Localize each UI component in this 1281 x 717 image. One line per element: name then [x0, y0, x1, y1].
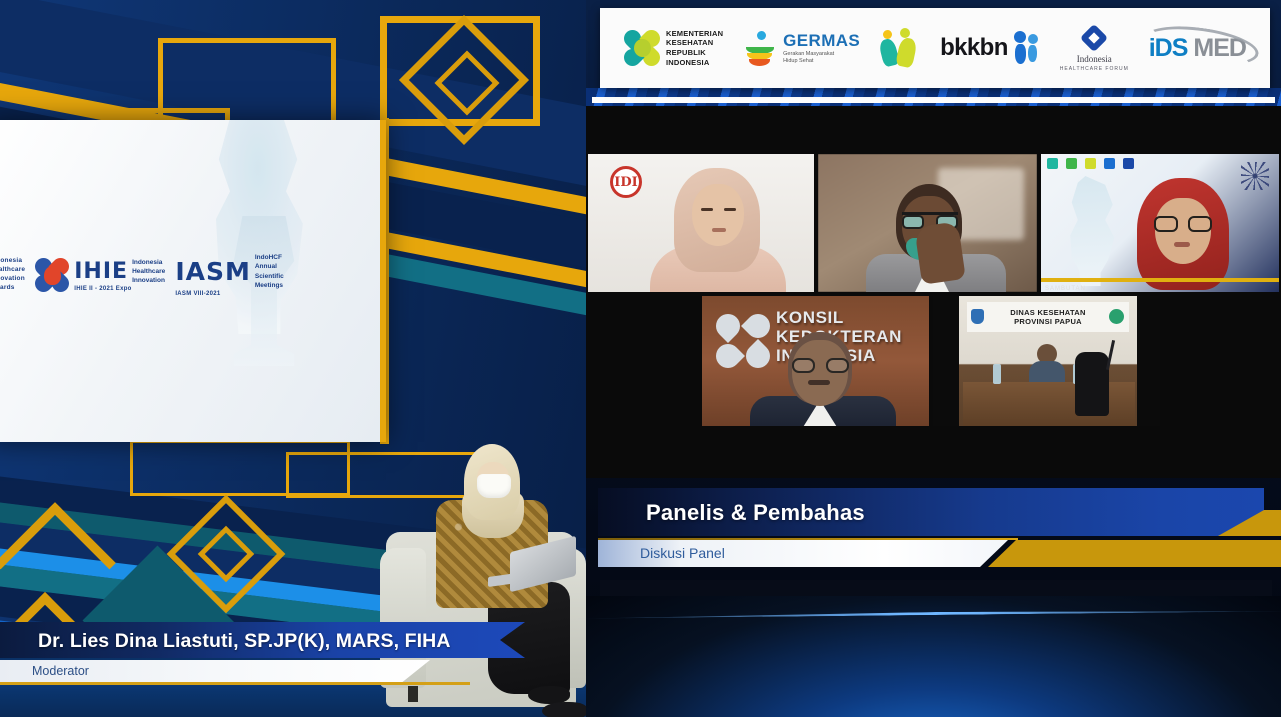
awards-caption: Indonesia Healthcare Innovation Awards: [0, 257, 25, 292]
ihie-sub-3: Innovation: [132, 276, 165, 285]
speaker-name: Dr. Lies Dina Liastuti, SP.JP(K), MARS, …: [38, 630, 451, 653]
participant-hand: [914, 221, 966, 285]
ihie-wordmark: IHIE: [74, 259, 128, 284]
awards-line-4: Awards: [0, 284, 25, 293]
papua-emblem-icon: [971, 309, 984, 324]
mini-logo-4-icon: [1104, 158, 1115, 169]
kemenkes-emblem-icon: [1109, 309, 1124, 324]
kemenkes-logo: KEMENTERIAN KESEHATAN REPUBLIK INDONESIA: [624, 29, 723, 68]
participant-tile-woman-hijab[interactable]: IDI: [588, 154, 814, 292]
panel-subtitle: Diskusi Panel: [640, 545, 725, 561]
gold-frame: [130, 440, 350, 496]
ihf-subtext: HEALTHCARE FORUM: [1060, 66, 1129, 72]
eyeglasses-icon: [1154, 216, 1212, 233]
idsmed-swoosh-icon: [1141, 20, 1261, 72]
bkkbn-wordmark: bkkbn: [940, 34, 1008, 62]
lower-third-banner: Dr. Lies Dina Liastuti, SP.JP(K), MARS, …: [0, 622, 540, 684]
backdrop-line-2: PROVINSI PAPUA: [1014, 317, 1082, 326]
participant-grid: IDI: [586, 106, 1281, 478]
iasm-logo: IASM IndoHCF Annual Scientific Meetings …: [175, 253, 283, 296]
participant-grid-row-top: IDI: [588, 154, 1279, 292]
ihf-mark-icon: [1080, 24, 1108, 52]
panel-title-banner: Panelis & Pembahas Diskusi Panel: [598, 488, 1281, 572]
awards-line-1: Indonesia: [0, 257, 25, 266]
kemenkes-line-4: INDONESIA: [666, 58, 723, 68]
bkkbn-logo: bkkbn: [940, 31, 1040, 65]
ihie-sub-1: Indonesia: [132, 258, 165, 267]
mini-logo-5-icon: [1123, 158, 1134, 169]
lower-third-gold-rule: [0, 682, 470, 685]
participant-mouth: [712, 228, 726, 232]
awards-line-2: Healthcare: [0, 266, 25, 275]
banner-gold-accent-bottom: [958, 540, 1281, 567]
sponsor-logo-bar: KEMENTERIAN KESEHATAN REPUBLIK INDONESIA…: [600, 8, 1270, 88]
participant-mouth: [1174, 242, 1190, 247]
germas-sub-2: Hidup Sehat: [783, 58, 860, 65]
face-mask-icon: [477, 474, 511, 498]
keluarga-sehat-mark-icon: [880, 28, 920, 68]
video-call-panel: IDI: [586, 0, 1281, 717]
speaker-role: Moderator: [32, 664, 89, 678]
backdrop-banner: DINAS KESEHATAN PROVINSI PAPUA: [967, 302, 1129, 332]
virtual-bg-logo-row: [1047, 158, 1134, 169]
iasm-sub-3: Scientific: [255, 272, 284, 281]
lower-dark-band: [600, 580, 1272, 596]
mini-logo-1-icon: [1047, 158, 1058, 169]
germas-mark-icon: [743, 29, 777, 67]
decorative-blue-strip: [586, 88, 1281, 106]
iasm-wordmark: IASM: [175, 257, 251, 286]
iasm-edition: IASM VIII-2021: [175, 291, 283, 297]
kemenkes-clover-icon: [624, 30, 660, 66]
participant-eye-left: [701, 208, 713, 211]
eyeglasses-icon: [792, 358, 849, 374]
participant-tile-dinas-kesehatan-papua[interactable]: DINAS KESEHATAN PROVINSI PAPUA: [933, 296, 1160, 426]
mini-logo-3-icon: [1085, 158, 1096, 169]
keluarga-sehat-logo: [880, 28, 920, 68]
kemenkes-line-1: KEMENTERIAN: [666, 29, 723, 39]
participant-face: [692, 184, 744, 246]
ihie-mark-icon: [35, 258, 69, 292]
backdrop-line-1: KONSIL: [776, 308, 902, 327]
germas-sub-1: Gerakan Masyarakat: [783, 51, 860, 58]
ihf-wordmark: Indonesia: [1077, 54, 1112, 64]
iasm-sub-2: Annual: [255, 262, 284, 271]
ihie-logo: IHIE Indonesia Healthcare Innovation IHI…: [35, 258, 165, 292]
idi-logo-icon: IDI: [610, 166, 642, 198]
kemenkes-line-2: KESEHATAN: [666, 38, 723, 48]
participant-tile-woman-red-hijab[interactable]: SAMBUTAN: [1041, 154, 1279, 292]
mini-logo-2-icon: [1066, 158, 1077, 169]
indonesia-healthcare-forum-logo: Indonesia HEALTHCARE FORUM: [1060, 24, 1129, 72]
participant-eye-right: [724, 208, 736, 211]
banner-gold-rule: [598, 538, 1018, 540]
studio-stage: Indonesia Healthcare Innovation Awards I…: [0, 0, 600, 717]
bkkbn-mark-icon: [1014, 31, 1040, 65]
ihie-edition: IHIE II - 2021 Expo: [74, 286, 165, 292]
tile-caption: SAMBUTAN: [1045, 286, 1086, 292]
screen-logo-row: Indonesia Healthcare Innovation Awards I…: [0, 238, 380, 312]
participant-mouth: [808, 380, 830, 385]
participant-tile-konsil-kedokteran[interactable]: KONSIL KEDOKTERAN INDONESIA: [702, 296, 929, 426]
iasm-sub-4: Meetings: [255, 281, 284, 290]
awards-line-3: Innovation: [0, 275, 25, 284]
ornament-icon: [1241, 162, 1269, 190]
broadcast-screen: Indonesia Healthcare Innovation Awards I…: [0, 0, 1281, 717]
virtual-bg-gold-bar: [1041, 278, 1279, 282]
presentation-screen: Indonesia Healthcare Innovation Awards I…: [0, 120, 386, 442]
konsil-kedokteran-logo-icon: [716, 314, 770, 368]
participant-grid-row-bottom: KONSIL KEDOKTERAN INDONESIA: [702, 296, 1160, 426]
iasm-sub-1: IndoHCF: [255, 253, 284, 262]
ihie-sub-2: Healthcare: [132, 267, 165, 276]
backdrop-line-1: DINAS KESEHATAN: [1010, 308, 1085, 317]
germas-wordmark: GERMAS: [783, 31, 860, 51]
meeting-desk: [963, 382, 1135, 426]
panel-title: Panelis & Pembahas: [646, 500, 865, 526]
idsmed-logo: iDS MED: [1149, 34, 1246, 63]
kemenkes-line-3: REPUBLIK: [666, 48, 723, 58]
moderator-shoe-right: [542, 702, 588, 717]
armchair-leg-left: [408, 686, 418, 702]
participant-tile-man-glasses[interactable]: [818, 154, 1037, 292]
germas-logo: GERMAS Gerakan Masyarakat Hidup Sehat: [743, 29, 860, 67]
water-bottle-icon: [993, 364, 1001, 384]
office-chair: [1075, 352, 1109, 416]
